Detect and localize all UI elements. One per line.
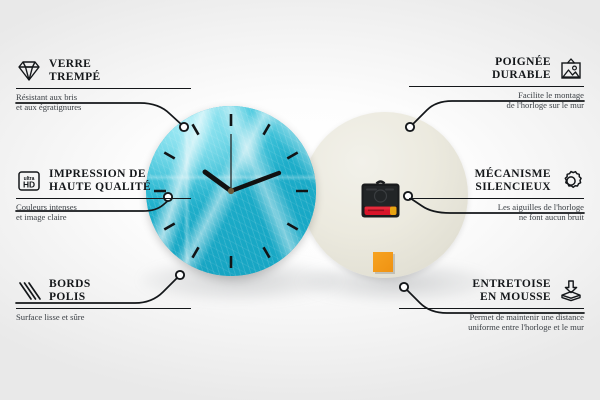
feature-description: Facilite le montagede l'horloge sur le m…: [409, 90, 584, 110]
picture-hanger-icon: [558, 57, 584, 81]
polished-edges-icon: [16, 279, 42, 303]
feature-title: POIGNÉEDURABLE: [492, 56, 551, 82]
divider: [399, 308, 584, 309]
clock-mechanism: [357, 177, 404, 224]
feature-description: Surface lisse et sûre: [16, 312, 191, 322]
divider: [16, 88, 191, 89]
feature-header: ultra HD IMPRESSION DEHAUTE QUALITÉ: [16, 168, 191, 194]
svg-text:HD: HD: [23, 180, 35, 190]
foam-spacer: [373, 252, 393, 272]
foam-press-icon: [558, 279, 584, 303]
gear-icon: [558, 169, 584, 193]
divider: [409, 86, 584, 87]
feature-description: Couleurs intenseset image claire: [16, 202, 191, 222]
feature-title: BORDSPOLIS: [49, 278, 91, 304]
feature-title: VERRETREMPÉ: [49, 58, 101, 84]
feature-header: ENTRETOISEEN MOUSSE: [399, 278, 584, 304]
feature-header: MÉCANISMESILENCIEUX: [409, 168, 584, 194]
feature-header: VERRETREMPÉ: [16, 58, 191, 84]
feature-description: Permet de maintenir une distanceuniforme…: [399, 312, 584, 332]
divider: [16, 308, 191, 309]
feature-title: IMPRESSION DEHAUTE QUALITÉ: [49, 168, 151, 194]
infographic-canvas: VERRETREMPÉ Résistant aux briset aux égr…: [0, 0, 600, 400]
feature-header: BORDSPOLIS: [16, 278, 191, 304]
feature-header: POIGNÉEDURABLE: [409, 56, 584, 82]
feature-impression-haute-qualite: ultra HD IMPRESSION DEHAUTE QUALITÉ Coul…: [16, 168, 191, 222]
feature-bords-polis: BORDSPOLIS Surface lisse et sûre: [16, 278, 191, 322]
ultra-hd-icon: ultra HD: [16, 169, 42, 193]
feature-poignee-durable: POIGNÉEDURABLE Facilite le montagede l'h…: [409, 56, 584, 110]
feature-title: MÉCANISMESILENCIEUX: [475, 168, 551, 194]
feature-title: ENTRETOISEEN MOUSSE: [472, 278, 551, 304]
feature-mecanisme-silencieux: MÉCANISMESILENCIEUX Les aiguilles de l'h…: [409, 168, 584, 222]
feature-verre-trempe: VERRETREMPÉ Résistant aux briset aux égr…: [16, 58, 191, 112]
divider: [409, 198, 584, 199]
feature-entretoise-en-mousse: ENTRETOISEEN MOUSSE Permet de maintenir …: [399, 278, 584, 332]
feature-description: Résistant aux briset aux égratignures: [16, 92, 191, 112]
feature-description: Les aiguilles de l'horlogene font aucun …: [409, 202, 584, 222]
divider: [16, 198, 191, 199]
diamond-icon: [16, 59, 42, 83]
